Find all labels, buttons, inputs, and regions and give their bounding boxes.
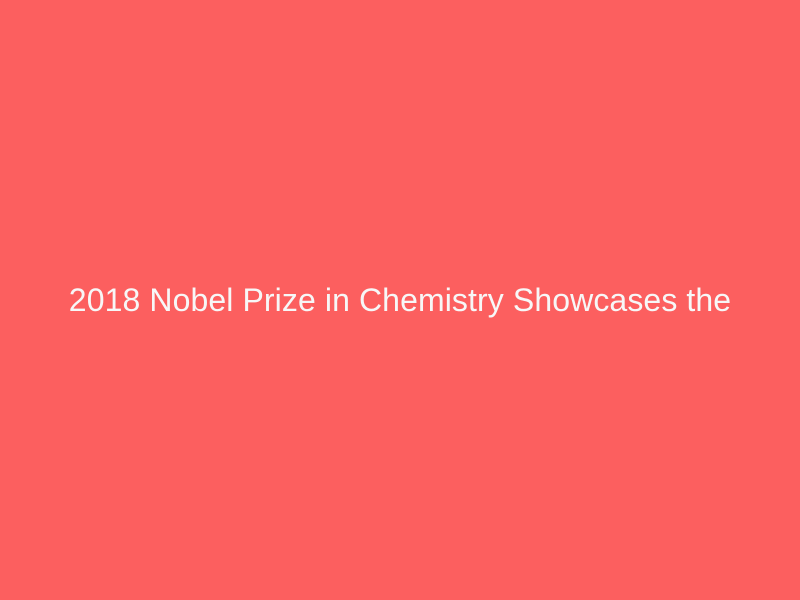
banner-content: 2018 Nobel Prize in Chemistry Showcases … — [0, 281, 800, 319]
article-banner: 2018 Nobel Prize in Chemistry Showcases … — [0, 0, 800, 600]
banner-title: 2018 Nobel Prize in Chemistry Showcases … — [32, 281, 768, 319]
